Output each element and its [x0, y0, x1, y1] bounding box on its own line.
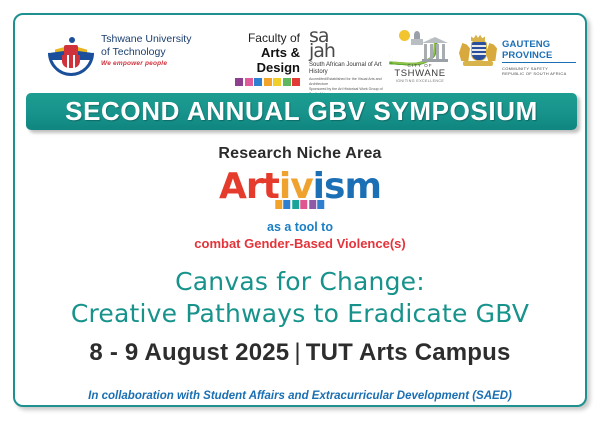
temple-column-4 [442, 44, 445, 60]
symposium-theme-line-1: Canvas for Change: [15, 266, 585, 298]
faculty-swatch-6 [283, 78, 291, 86]
artivism-segment-art: Art [219, 166, 279, 207]
tut-base-split-2 [73, 55, 75, 68]
event-dates: 8 - 9 August 2025 [89, 339, 289, 366]
sajah-monogram-line-2: jah [309, 44, 387, 59]
shield-shape [471, 41, 487, 61]
tut-body-shape [64, 45, 78, 55]
shield-stripe-1 [472, 45, 486, 47]
artivism-color-squares [275, 200, 325, 209]
artivism-square-2 [284, 200, 291, 209]
tut-base-split-1 [67, 55, 69, 68]
faculty-color-swatches [224, 78, 300, 86]
tut-name-line-1: Tshwane University [101, 33, 191, 46]
tshwane-university-of-technology-logo: Tshwane University of Technology We empo… [48, 29, 208, 81]
scroll-shape [463, 61, 493, 66]
faculty-swatch-4 [264, 78, 272, 86]
artivism-wordmark: Artivism [15, 167, 585, 213]
event-title-banner-text: SECOND ANNUAL GBV SYMPOSIUM [65, 96, 538, 127]
gauteng-province-wordmark: GAUTENG PROVINCE COMMUNITY SAFETY REPUBL… [502, 39, 576, 76]
event-date-venue: 8 - 9 August 2025|TUT Arts Campus [15, 339, 585, 367]
research-niche-area-heading: Research Niche Area [15, 145, 585, 163]
temple-column-1 [424, 44, 427, 60]
shield-stripe-3 [472, 53, 486, 55]
artivism-square-4 [301, 200, 308, 209]
sajah-subtitle-1: Accredited/Established for the Visual Ar… [309, 77, 387, 86]
shield-stripe-2 [472, 49, 486, 51]
faculty-swatch-5 [273, 78, 281, 86]
temple-building-shape [422, 37, 448, 61]
faculty-line-2: Arts & Design [224, 45, 300, 75]
temple-roof-shape [422, 37, 448, 43]
crown-shape [471, 34, 485, 41]
artivism-square-3 [292, 200, 299, 209]
gauteng-province-country: REPUBLIC OF SOUTH AFRICA [502, 71, 576, 76]
faculty-line-1: Faculty of [224, 31, 300, 45]
faculty-swatch-3 [254, 78, 262, 86]
tut-wordmark: Tshwane University of Technology We empo… [101, 33, 191, 67]
south-african-journal-of-art-history-logo: sa jah South African Journal of Art Hist… [309, 29, 387, 79]
faculty-swatch-2 [245, 78, 253, 86]
symposium-theme-title: Canvas for Change: Creative Pathways to … [15, 266, 585, 330]
collaboration-note: In collaboration with Student Affairs an… [15, 390, 585, 402]
faculty-swatch-1 [235, 78, 243, 86]
city-of-tshwane-line-2: TSHWANE [387, 68, 453, 79]
poster-card: Tshwane University of Technology We empo… [13, 13, 587, 407]
tut-emblem-icon [48, 30, 94, 76]
tut-base-shape [62, 55, 80, 68]
sponsor-logo-strip: Tshwane University of Technology We empo… [15, 25, 585, 87]
artivism-tagline-primary: as a tool to [15, 220, 585, 234]
faculty-of-arts-and-design-logo: Faculty of Arts & Design [224, 31, 300, 79]
artivism-wordmark-text: Artivism [219, 167, 381, 207]
event-separator: | [289, 339, 305, 366]
event-title-banner: SECOND ANNUAL GBV SYMPOSIUM [26, 93, 577, 130]
city-of-tshwane-emblem-icon [389, 27, 451, 65]
symposium-theme-line-2: Creative Pathways to Eradicate GBV [15, 298, 585, 330]
city-of-tshwane-line-3: IGNITING EXCELLENCE [387, 79, 453, 83]
tut-head-dot-shape [69, 37, 75, 43]
event-venue: TUT Arts Campus [306, 339, 511, 366]
tut-tagline: We empower people [101, 60, 191, 67]
city-of-tshwane-logo: CITY OF TSHWANE IGNITING EXCELLENCE [387, 27, 453, 83]
gauteng-province-title: GAUTENG PROVINCE [502, 39, 576, 63]
city-of-tshwane-wordmark: CITY OF TSHWANE IGNITING EXCELLENCE [387, 63, 453, 83]
artivism-square-1 [275, 200, 282, 209]
temple-column-2 [430, 44, 433, 60]
sajah-monogram-icon: sa jah [309, 29, 387, 59]
tut-name-line-2: of Technology [101, 46, 191, 59]
lion-right-shape [486, 43, 497, 61]
faculty-swatch-7 [292, 78, 300, 86]
artivism-square-6 [318, 200, 325, 209]
coat-of-arms-icon [458, 33, 498, 71]
temple-column-3 [436, 44, 439, 60]
artivism-square-5 [309, 200, 316, 209]
lion-left-shape [459, 43, 470, 61]
gauteng-province-logo: GAUTENG PROVINCE COMMUNITY SAFETY REPUBL… [458, 31, 576, 79]
temple-base-shape [422, 59, 448, 62]
sajah-title: South African Journal of Art History [309, 62, 387, 76]
artivism-tagline-secondary: combat Gender-Based Violence(s) [15, 236, 585, 251]
